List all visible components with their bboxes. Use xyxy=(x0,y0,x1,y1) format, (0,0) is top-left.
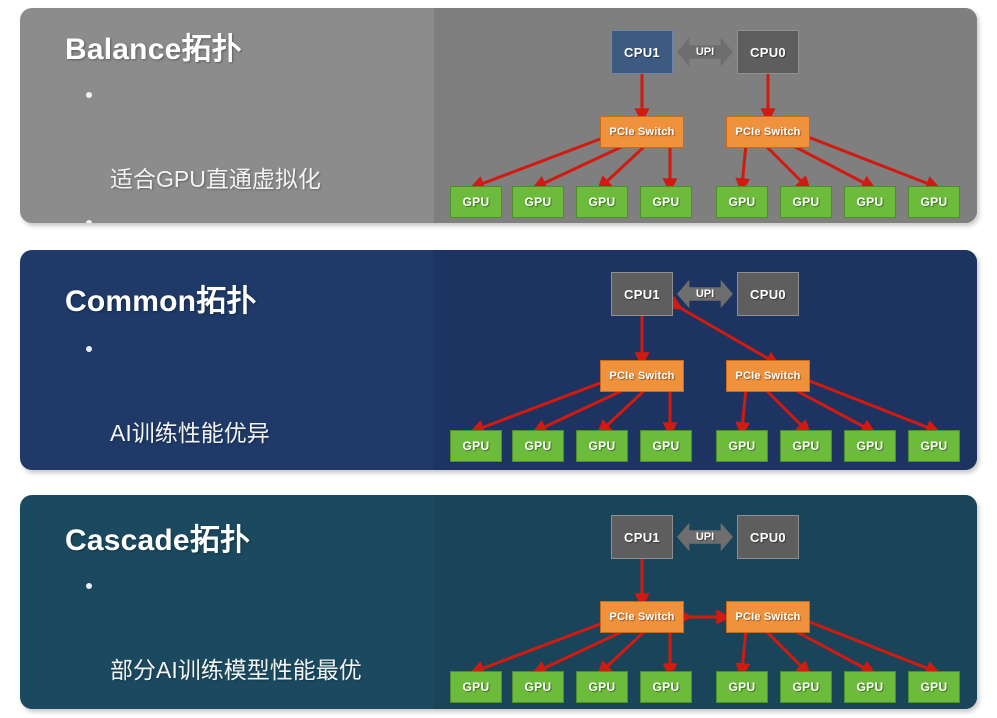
diagram-cascade: CPU1 UPI CPU0 PCIe Switch PCIe Switch GP… xyxy=(434,495,977,709)
bullet-text: 适合GPU直通虚拟化 xyxy=(110,166,321,192)
gpu-node: GPU xyxy=(450,671,502,703)
bullet-dot-icon xyxy=(86,92,92,98)
pcie-switch-right: PCIe Switch xyxy=(726,360,810,392)
gpu-node: GPU xyxy=(450,430,502,462)
panel-cascade-title: Cascade拓扑 xyxy=(65,515,250,559)
pcie-switch-left: PCIe Switch xyxy=(600,116,684,148)
gpu-node: GPU xyxy=(512,186,564,218)
upi-link-icon: UPI xyxy=(677,35,733,69)
cpu-node-cpu1: CPU1 xyxy=(611,30,673,74)
gpu-node: GPU xyxy=(908,671,960,703)
panel-common-bullets: AI训练性能优异 适用于多数的深度学习 训练场景 xyxy=(82,328,432,470)
pcie-switch-left: PCIe Switch xyxy=(600,601,684,633)
gpu-node: GPU xyxy=(576,671,628,703)
gpu-node: GPU xyxy=(908,186,960,218)
list-item: 适用于多参数模型的大规模 深度学习训练场景 xyxy=(82,693,432,709)
cpu-node-cpu0: CPU0 xyxy=(737,30,799,74)
pcie-switch-left: PCIe Switch xyxy=(600,360,684,392)
panel-cascade-text: Cascade拓扑 部分AI训练模型性能最优 适用于多参数模型的大规模 深度学习… xyxy=(20,495,434,709)
list-item: 中/小规模深度学习训练、 推理、公有云和HPC xyxy=(82,202,432,223)
upi-link-icon: UPI xyxy=(677,277,733,311)
panel-balance-title: Balance拓扑 xyxy=(65,24,242,68)
list-item: AI训练性能优异 xyxy=(82,328,432,454)
panel-balance: Balance拓扑 适合GPU直通虚拟化 中/小规模深度学习训练、 推理、公有云… xyxy=(20,8,977,223)
bullet-dot-icon xyxy=(86,346,92,352)
pcie-switch-right: PCIe Switch xyxy=(726,116,810,148)
list-item: 部分AI训练模型性能最优 xyxy=(82,565,432,691)
panel-cascade: Cascade拓扑 部分AI训练模型性能最优 适用于多参数模型的大规模 深度学习… xyxy=(20,495,977,709)
bullet-dot-icon xyxy=(86,583,92,589)
cpu-node-cpu1: CPU1 xyxy=(611,272,673,316)
cpu-node-cpu0: CPU0 xyxy=(737,272,799,316)
list-item: 适合GPU直通虚拟化 xyxy=(82,74,432,200)
panel-cascade-bullets: 部分AI训练模型性能最优 适用于多参数模型的大规模 深度学习训练场景 xyxy=(82,565,432,709)
bullet-dot-icon xyxy=(86,220,92,223)
gpu-node: GPU xyxy=(780,430,832,462)
gpu-node: GPU xyxy=(512,430,564,462)
gpu-node: GPU xyxy=(576,430,628,462)
cpu-node-cpu1: CPU1 xyxy=(611,515,673,559)
gpu-node: GPU xyxy=(844,671,896,703)
diagram-balance: CPU1 UPI CPU0 PCIe Switch PCIe Switch GP… xyxy=(434,8,977,223)
pcie-switch-right: PCIe Switch xyxy=(726,601,810,633)
list-item: 适用于多数的深度学习 训练场景 xyxy=(82,456,432,470)
gpu-node: GPU xyxy=(450,186,502,218)
gpu-node: GPU xyxy=(640,430,692,462)
gpu-node: GPU xyxy=(716,671,768,703)
bullet-text: AI训练性能优异 xyxy=(110,420,270,446)
upi-link-icon: UPI xyxy=(677,520,733,554)
cpu-node-cpu0: CPU0 xyxy=(737,515,799,559)
gpu-node: GPU xyxy=(780,186,832,218)
gpu-node: GPU xyxy=(716,186,768,218)
panel-common: Common拓扑 AI训练性能优异 适用于多数的深度学习 训练场景 xyxy=(20,250,977,470)
gpu-node: GPU xyxy=(576,186,628,218)
gpu-node: GPU xyxy=(716,430,768,462)
gpu-node: GPU xyxy=(512,671,564,703)
panel-common-text: Common拓扑 AI训练性能优异 适用于多数的深度学习 训练场景 xyxy=(20,250,434,470)
gpu-node: GPU xyxy=(844,430,896,462)
diagram-common: CPU1 UPI CPU0 PCIe Switch PCIe Switch GP… xyxy=(434,250,977,470)
gpu-node: GPU xyxy=(640,671,692,703)
panel-common-title: Common拓扑 xyxy=(65,276,257,320)
panel-balance-text: Balance拓扑 适合GPU直通虚拟化 中/小规模深度学习训练、 推理、公有云… xyxy=(20,8,434,223)
panel-balance-bullets: 适合GPU直通虚拟化 中/小规模深度学习训练、 推理、公有云和HPC xyxy=(82,74,432,223)
gpu-node: GPU xyxy=(780,671,832,703)
gpu-node: GPU xyxy=(640,186,692,218)
bullet-text: 部分AI训练模型性能最优 xyxy=(110,657,362,683)
gpu-node: GPU xyxy=(844,186,896,218)
gpu-node: GPU xyxy=(908,430,960,462)
